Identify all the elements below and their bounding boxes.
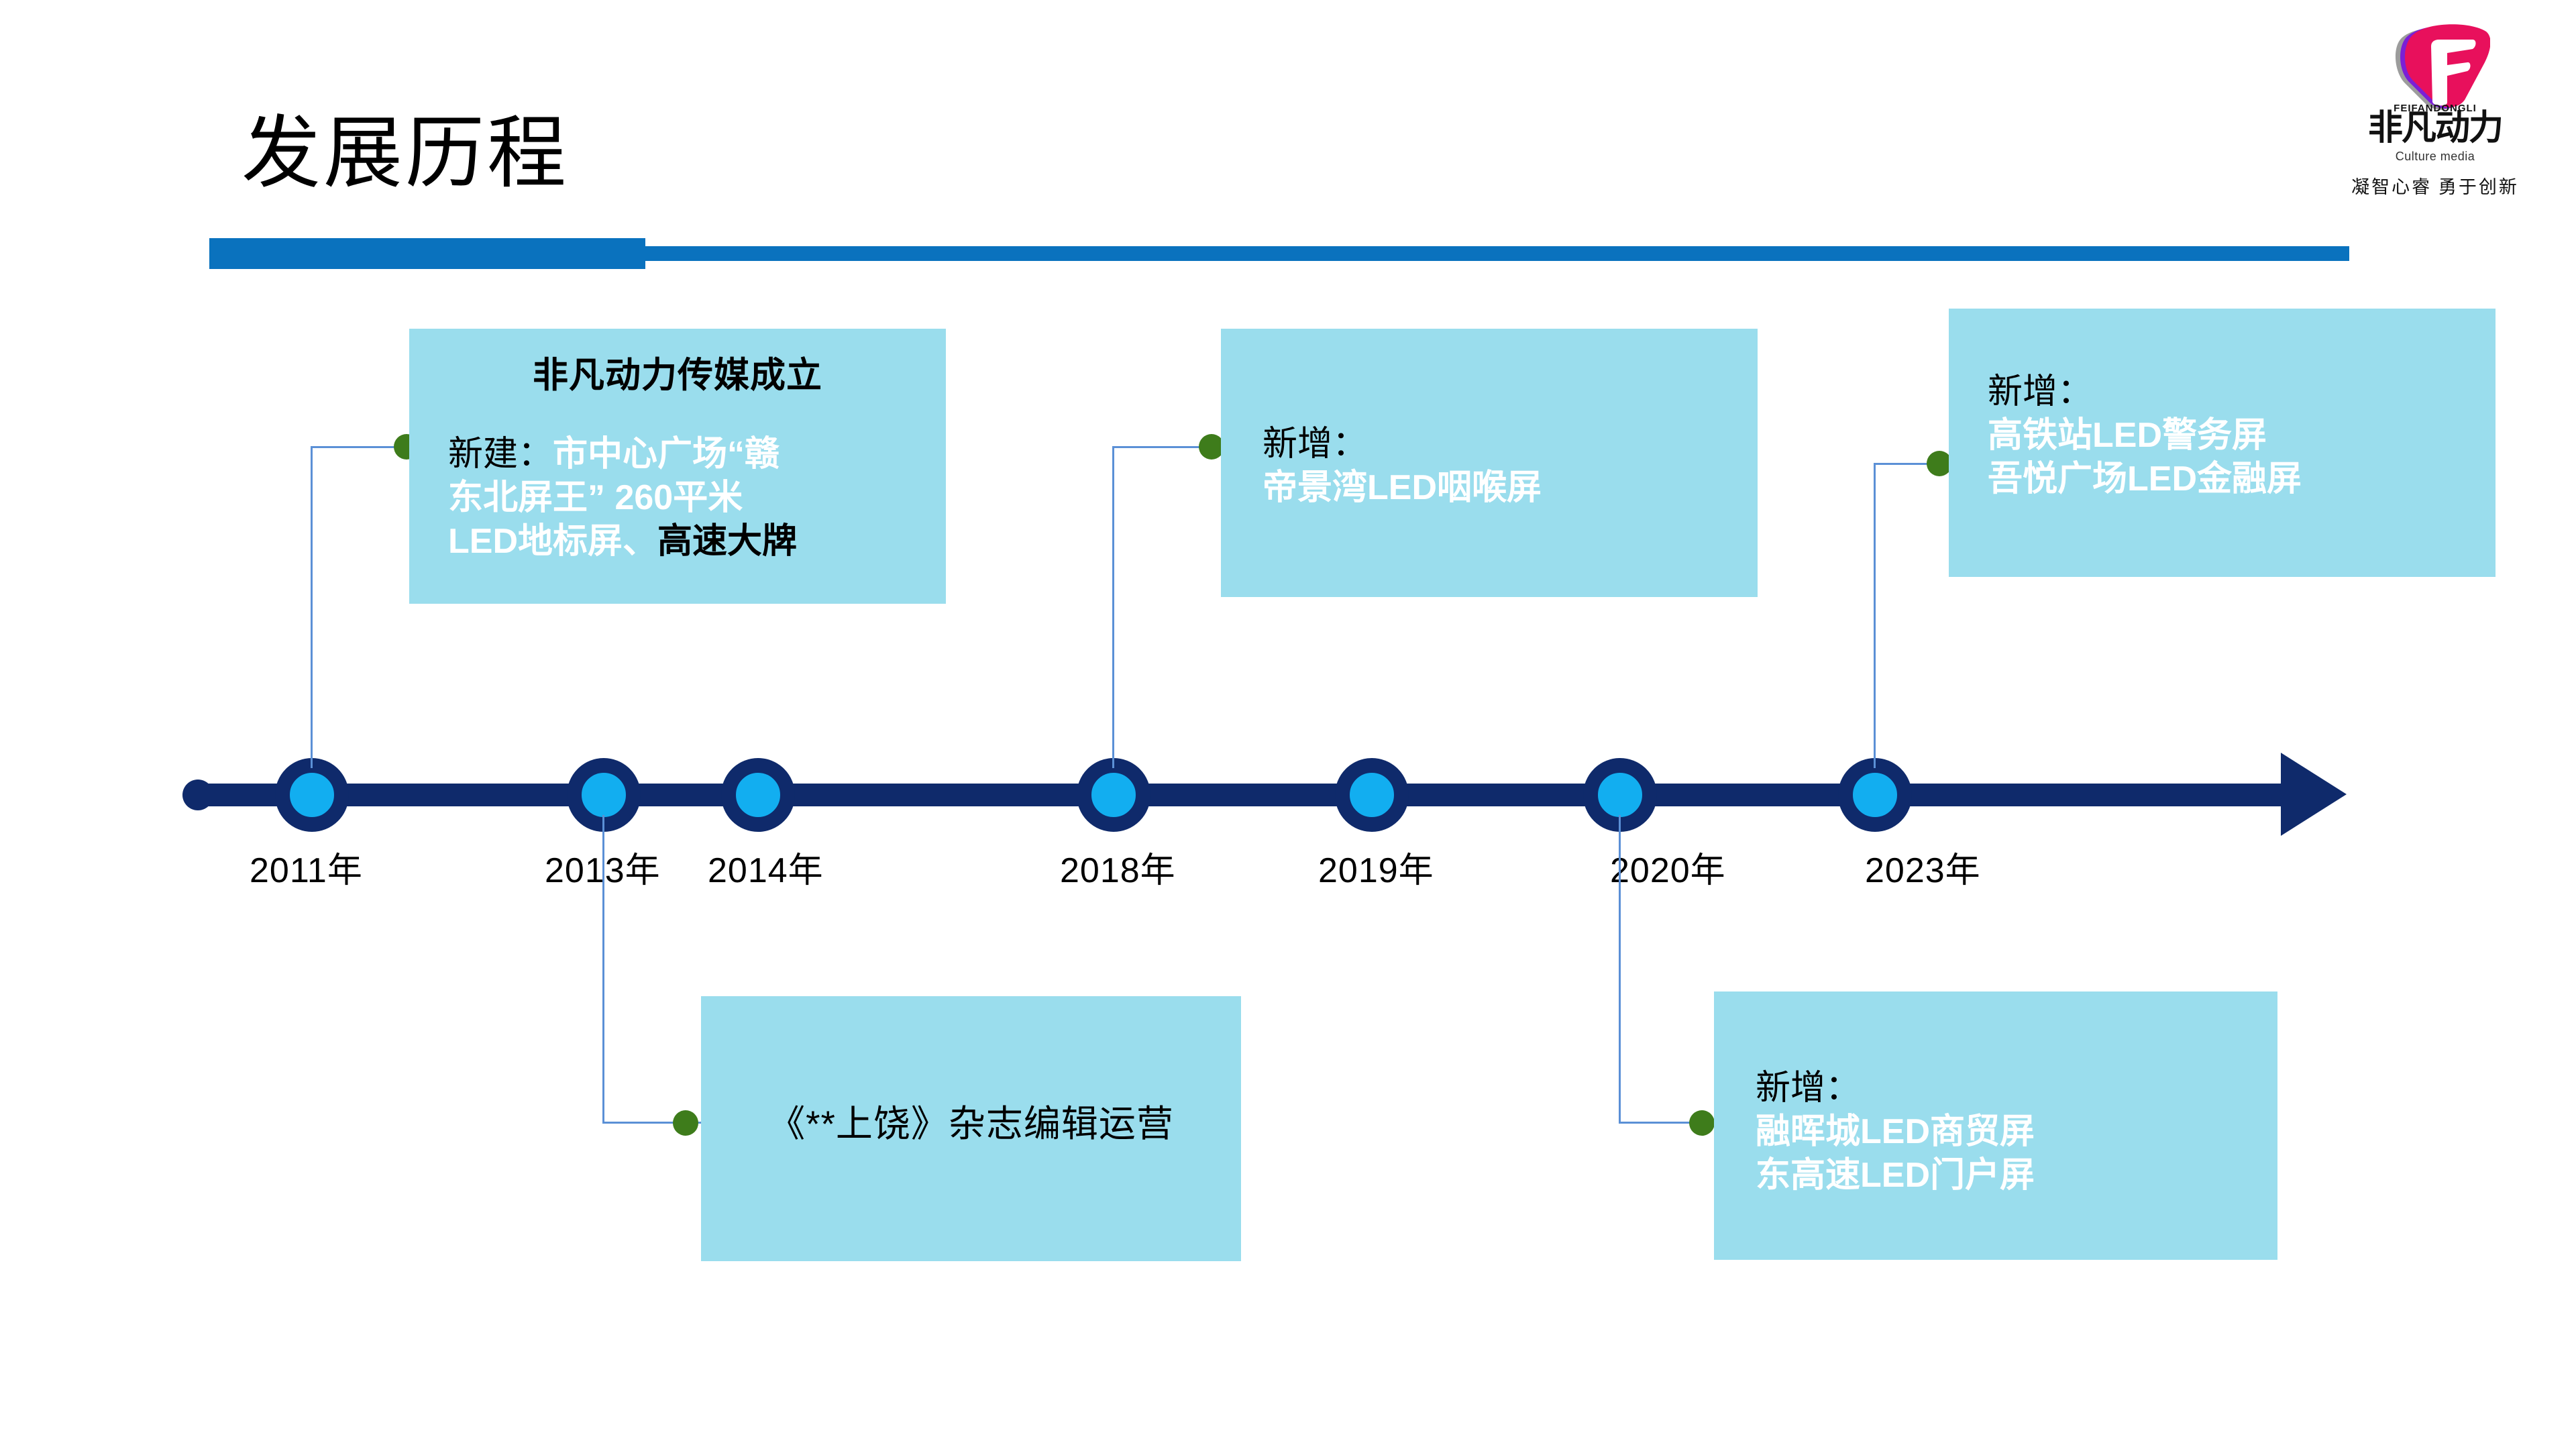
card-2018-line1: 帝景湾LED咽喉屏 — [1263, 468, 1542, 507]
connector-vertical-2013 — [602, 815, 604, 1124]
card-2011-line3: LED地标屏、 — [448, 522, 657, 561]
card-2023-label: 新增： — [1988, 372, 2092, 411]
milestone-card-2023[interactable]: 新增： 高铁站LED警务屏 吾悦广场LED金融屏 — [1949, 309, 2495, 577]
card-2020-body: 新增： 融晖城LED商贸屏 东高速LED门户屏 — [1756, 1067, 2261, 1197]
card-2018-body: 新增： 帝景湾LED咽喉屏 — [1263, 423, 1741, 510]
year-label-2019: 2019年 — [1318, 842, 1434, 892]
connector-dot-2020 — [1689, 1110, 1715, 1136]
connector-vertical-2018 — [1112, 446, 1114, 768]
card-2020-label: 新增： — [1756, 1069, 1860, 1108]
logo-tagline: 凝智心睿 勇于创新 — [2341, 172, 2529, 199]
timeline-node-2014[interactable] — [721, 758, 795, 832]
milestone-card-2013[interactable]: 《**上饶》杂志编辑运营 — [701, 996, 1241, 1261]
card-2011-body: 新建：市中心广场“赣 东北屏王” 260平米 LED地标屏、高速大牌 — [448, 433, 926, 563]
card-2023-line2: 吾悦广场LED金融屏 — [1988, 460, 2302, 498]
timeline-node-2023[interactable] — [1838, 758, 1912, 832]
triangular-f-logo-icon — [2383, 23, 2490, 114]
card-2011-line1: 市中心广场“赣 — [553, 435, 780, 474]
company-logo: FEIFANDONGLI 非凡动力 Culture media 凝智心睿 勇于创… — [2341, 23, 2529, 225]
title-underline-thin — [645, 246, 2349, 261]
milestone-card-2018[interactable]: 新增： 帝景湾LED咽喉屏 — [1221, 329, 1758, 597]
title-underline-thick — [209, 238, 645, 269]
milestone-card-2020[interactable]: 新增： 融晖城LED商贸屏 东高速LED门户屏 — [1714, 991, 2277, 1260]
year-label-2011: 2011年 — [250, 842, 363, 892]
card-2023-body: 新增： 高铁站LED警务屏 吾悦广场LED金融屏 — [1988, 370, 2479, 501]
card-2020-line2: 东高速LED门户屏 — [1756, 1156, 2035, 1195]
card-2020-line1: 融晖城LED商贸屏 — [1756, 1112, 2035, 1151]
card-2011-line3-black: 高速大牌 — [657, 522, 797, 561]
card-2011-title: 非凡动力传媒成立 — [409, 354, 946, 397]
year-label-2018: 2018年 — [1060, 842, 1176, 892]
milestone-card-2011[interactable]: 非凡动力传媒成立 新建：市中心广场“赣 东北屏王” 260平米 LED地标屏、高… — [409, 329, 946, 604]
logo-name-cn: 非凡动力 — [2341, 111, 2529, 146]
logo-subtitle: Culture media — [2341, 150, 2529, 164]
card-2023-line1: 高铁站LED警务屏 — [1988, 416, 2267, 455]
timeline-node-2011[interactable] — [275, 758, 349, 832]
card-2018-label: 新增： — [1263, 425, 1367, 464]
slide-canvas: 发展历程 FEIFANDONGLI 非凡动力 Culture media 凝智心… — [0, 0, 2576, 1449]
timeline-node-2018[interactable] — [1077, 758, 1150, 832]
card-2013-text: 《**上饶》杂志编辑运营 — [714, 1100, 1228, 1148]
timeline-arrow-icon — [2281, 753, 2347, 836]
connector-vertical-2011 — [311, 446, 313, 768]
connector-vertical-2023 — [1874, 463, 1876, 768]
card-2011-line2: 东北屏王” 260平米 — [448, 478, 743, 517]
card-2011-label: 新建： — [448, 435, 553, 474]
year-label-2020: 2020年 — [1610, 842, 1726, 892]
timeline-node-2019[interactable] — [1335, 758, 1409, 832]
connector-vertical-2020 — [1619, 815, 1621, 1124]
year-label-2023: 2023年 — [1865, 842, 1981, 892]
year-label-2014: 2014年 — [708, 842, 824, 892]
connector-dot-2013 — [673, 1110, 698, 1136]
timeline-axis — [201, 784, 2308, 806]
page-title: 发展历程 — [241, 111, 569, 198]
